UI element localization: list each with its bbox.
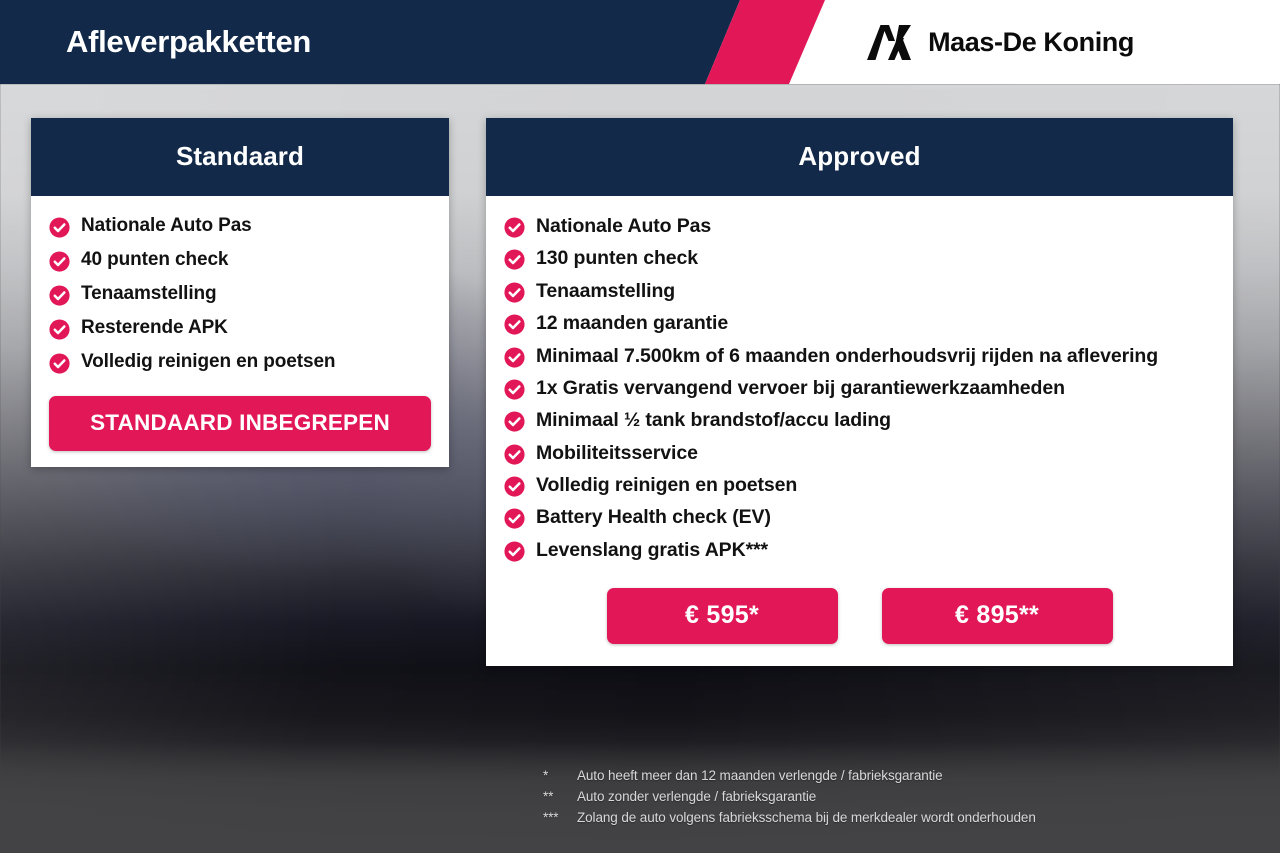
feature-label: 1x Gratis vervangend vervoer bij garanti…: [536, 376, 1065, 400]
footnote-marker: **: [543, 787, 577, 808]
check-circle-icon: [504, 508, 525, 529]
feature-label: Levenslang gratis APK***: [536, 538, 768, 562]
page-title: Afleverpakketten: [66, 0, 311, 84]
check-circle-icon: [504, 217, 525, 238]
feature-label: Minimaal ½ tank brandstof/accu lading: [536, 408, 891, 432]
price-button-1[interactable]: € 595*: [607, 588, 838, 644]
feature-list-standaard: Nationale Auto Pas40 punten checkTenaams…: [49, 214, 431, 374]
check-circle-icon: [504, 379, 525, 400]
feature-label: Volledig reinigen en poetsen: [81, 350, 335, 373]
feature-item: Volledig reinigen en poetsen: [49, 350, 431, 374]
check-circle-icon: [49, 217, 70, 238]
footnotes: *Auto heeft meer dan 12 maanden verlengd…: [543, 766, 1036, 828]
check-circle-icon: [504, 444, 525, 465]
feature-label: Minimaal 7.500km of 6 maanden onderhouds…: [536, 344, 1158, 368]
feature-item: 1x Gratis vervangend vervoer bij garanti…: [504, 376, 1215, 400]
check-circle-icon: [49, 319, 70, 340]
brand-logo: Maas-De Koning: [864, 0, 1134, 84]
package-title-approved: Approved: [486, 118, 1233, 196]
package-body-approved: Nationale Auto Pas130 punten checkTenaam…: [486, 196, 1233, 666]
feature-item: Minimaal ½ tank brandstof/accu lading: [504, 408, 1215, 432]
feature-item: Minimaal 7.500km of 6 maanden onderhouds…: [504, 344, 1215, 368]
footnote-row: **Auto zonder verlengde / fabrieksgarant…: [543, 787, 1036, 808]
check-circle-icon: [504, 282, 525, 303]
package-card-standaard: Standaard Nationale Auto Pas40 punten ch…: [31, 118, 449, 467]
feature-item: Battery Health check (EV): [504, 505, 1215, 529]
feature-item: Levenslang gratis APK***: [504, 538, 1215, 562]
check-circle-icon: [504, 314, 525, 335]
check-circle-icon: [504, 476, 525, 497]
feature-item: Tenaamstelling: [504, 279, 1215, 303]
footnote-row: *Auto heeft meer dan 12 maanden verlengd…: [543, 766, 1036, 787]
feature-label: Tenaamstelling: [536, 279, 675, 303]
price-button-row: € 595*€ 895**: [504, 588, 1215, 644]
feature-label: Nationale Auto Pas: [536, 214, 711, 238]
feature-label: Resterende APK: [81, 316, 228, 339]
check-circle-icon: [504, 347, 525, 368]
check-circle-icon: [49, 285, 70, 306]
feature-item: Resterende APK: [49, 316, 431, 340]
footnote-text: Auto zonder verlengde / fabrieksgarantie: [577, 787, 816, 808]
package-title-standaard: Standaard: [31, 118, 449, 196]
feature-label: 40 punten check: [81, 248, 228, 271]
feature-item: Tenaamstelling: [49, 282, 431, 306]
package-card-approved: Approved Nationale Auto Pas130 punten ch…: [486, 118, 1233, 666]
feature-item: Nationale Auto Pas: [49, 214, 431, 238]
page-header: Afleverpakketten Maas-De Koning: [0, 0, 1280, 84]
brand-name: Maas-De Koning: [928, 27, 1134, 58]
feature-item: 12 maanden garantie: [504, 311, 1215, 335]
check-circle-icon: [49, 251, 70, 272]
standaard-inbegrepen-button[interactable]: STANDAARD INBEGREPEN: [49, 396, 431, 451]
feature-item: Nationale Auto Pas: [504, 214, 1215, 238]
check-circle-icon: [504, 249, 525, 270]
feature-label: 130 punten check: [536, 246, 698, 270]
feature-label: 12 maanden garantie: [536, 311, 728, 335]
footnote-marker: ***: [543, 808, 577, 829]
feature-item: 130 punten check: [504, 246, 1215, 270]
footnote-text: Auto heeft meer dan 12 maanden verlengde…: [577, 766, 943, 787]
feature-label: Volledig reinigen en poetsen: [536, 473, 797, 497]
footnote-row: ***Zolang de auto volgens fabrieksschema…: [543, 808, 1036, 829]
package-body-standaard: Nationale Auto Pas40 punten checkTenaams…: [31, 196, 449, 467]
price-button-2[interactable]: € 895**: [882, 588, 1113, 644]
check-circle-icon: [504, 541, 525, 562]
feature-label: Nationale Auto Pas: [81, 214, 252, 237]
maas-de-koning-m-logo-icon: [864, 22, 914, 62]
feature-list-approved: Nationale Auto Pas130 punten checkTenaam…: [504, 214, 1215, 562]
feature-item: Volledig reinigen en poetsen: [504, 473, 1215, 497]
check-circle-icon: [49, 353, 70, 374]
check-circle-icon: [504, 411, 525, 432]
footnote-marker: *: [543, 766, 577, 787]
feature-label: Tenaamstelling: [81, 282, 217, 305]
feature-item: 40 punten check: [49, 248, 431, 272]
feature-item: Mobiliteitsservice: [504, 441, 1215, 465]
footnote-text: Zolang de auto volgens fabrieksschema bi…: [577, 808, 1036, 829]
feature-label: Battery Health check (EV): [536, 505, 771, 529]
feature-label: Mobiliteitsservice: [536, 441, 698, 465]
